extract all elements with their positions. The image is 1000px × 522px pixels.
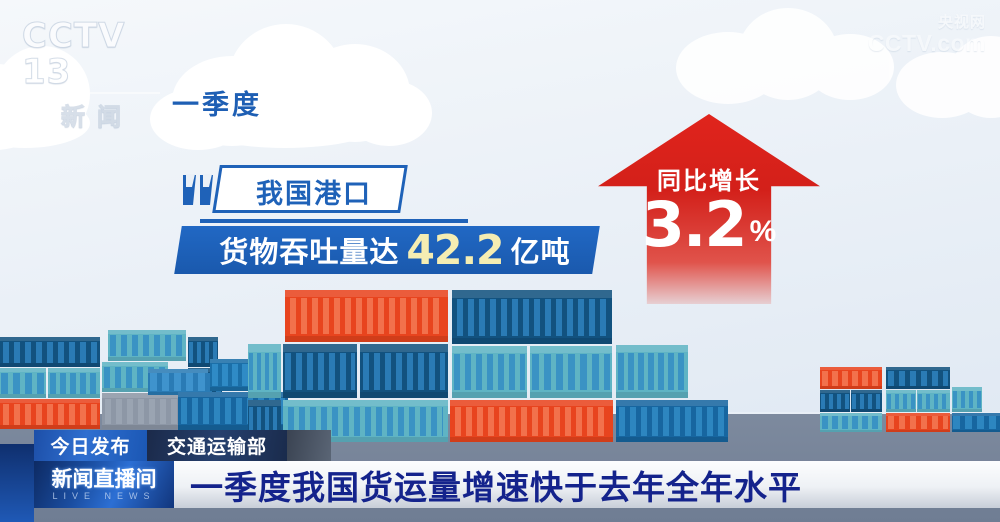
container-bottom-rail <box>48 394 100 398</box>
container-corrugation <box>888 416 948 429</box>
container-bottom-rail <box>886 386 950 389</box>
container-bottom-rail <box>917 409 950 412</box>
container-corrugation <box>852 394 881 409</box>
container-corrugation <box>918 394 949 409</box>
cctv-com-watermark-en: CCTV.com <box>808 31 986 55</box>
container-corrugation <box>3 342 97 363</box>
cctv-com-watermark-cn: 央视网 <box>808 14 986 31</box>
container-corrugation <box>50 373 99 394</box>
growth-value-group: 3.2 % <box>598 196 820 254</box>
container-bottom-rail <box>886 409 916 412</box>
program-name-cn: 新闻直播间 <box>52 468 157 491</box>
container-corrugation <box>822 371 880 386</box>
container-corrugation <box>457 299 607 336</box>
shipping-container <box>0 337 100 367</box>
container-top-rail <box>248 344 281 352</box>
container-bottom-rail <box>285 336 448 342</box>
stat-banner-rule <box>200 219 468 223</box>
growth-percent-sign: % <box>750 210 777 254</box>
container-bottom-rail <box>616 392 688 398</box>
container-corrugation <box>3 404 97 425</box>
stat-prefix-text: 货物吞吐量达 <box>219 229 399 271</box>
stat-unit-text: 亿吨 <box>511 229 571 271</box>
container-corrugation <box>953 391 981 408</box>
container-corrugation <box>290 298 443 334</box>
shipping-container <box>285 290 448 342</box>
container-corrugation <box>821 394 849 409</box>
container-bottom-rail <box>851 409 882 412</box>
shipping-container <box>452 346 527 398</box>
container-bottom-rail <box>108 357 186 361</box>
shipping-container <box>0 399 100 429</box>
container-corrugation <box>888 371 948 386</box>
stat-banner-content: 货物吞吐量达 42.2 亿吨 <box>190 226 600 274</box>
container-bottom-rail <box>530 392 612 398</box>
container-corrugation <box>953 416 998 429</box>
container-top-rail <box>530 346 612 353</box>
container-corrugation <box>249 353 280 390</box>
lower-third-left-strip <box>0 444 34 522</box>
lower-third-banner: 今日发布 交通运输部 新闻直播间 LIVE NEWS 一季度我国货运量增速快于去… <box>0 430 1000 522</box>
container-corrugation <box>532 354 609 390</box>
container-bottom-rail <box>820 409 850 412</box>
container-corrugation <box>887 394 915 409</box>
container-corrugation <box>454 354 525 390</box>
cloud-main <box>150 22 440 142</box>
stat-number: 42.2 <box>406 230 503 270</box>
tag-row-tail <box>287 430 331 461</box>
tag-today-release: 今日发布 <box>34 430 147 461</box>
container-top-rail <box>452 290 612 298</box>
container-top-rail <box>0 368 46 372</box>
shipping-container <box>530 346 612 398</box>
container-corrugation <box>618 353 686 390</box>
lower-third-headline-row: 新闻直播间 LIVE NEWS 一季度我国货运量增速快于去年全年水平 <box>34 461 1000 508</box>
container-bottom-rail <box>452 338 612 344</box>
container-top-rail <box>360 344 448 352</box>
container-bottom-rail <box>0 425 100 429</box>
cctv13-logo-divider <box>24 92 160 94</box>
shipping-container <box>0 368 46 398</box>
container-top-rail <box>952 387 982 391</box>
container-top-rail <box>188 337 218 341</box>
container-bottom-rail <box>360 392 448 398</box>
container-bottom-rail <box>0 394 46 398</box>
container-top-rail <box>283 344 357 352</box>
container-top-rail <box>452 346 527 353</box>
lower-third-tag-row: 今日发布 交通运输部 <box>34 430 331 461</box>
shipping-container <box>283 344 357 398</box>
container-top-rail <box>616 345 688 352</box>
container-bottom-rail <box>283 392 357 398</box>
container-bottom-rail <box>952 409 982 412</box>
container-top-rail <box>0 399 100 403</box>
shipping-container <box>820 390 850 412</box>
container-top-rail <box>0 337 100 341</box>
shipping-container <box>820 367 882 389</box>
cctv-com-watermark: 央视网 CCTV.com <box>808 14 986 60</box>
headline-text: 一季度我国货运量增速快于去年全年水平 <box>190 461 802 509</box>
shipping-container <box>48 368 100 398</box>
shipping-container <box>851 390 882 412</box>
container-top-rail <box>283 400 448 406</box>
container-top-rail <box>102 362 168 366</box>
container-top-rail <box>48 368 100 372</box>
shipping-container <box>248 344 281 398</box>
container-corrugation <box>150 373 206 391</box>
shipping-container <box>886 367 950 389</box>
container-bottom-rail <box>820 386 882 389</box>
container-top-rail <box>285 290 448 297</box>
container-top-rail <box>108 330 186 334</box>
cctv13-logo-line1: CCTV 13 <box>22 18 172 90</box>
container-top-rail <box>248 400 281 406</box>
container-corrugation <box>1 373 44 394</box>
container-bottom-rail <box>0 363 100 367</box>
growth-value: 3.2 <box>642 196 746 254</box>
container-top-rail <box>616 400 728 406</box>
container-bottom-rail <box>248 392 281 398</box>
tag-source-ministry: 交通运输部 <box>147 430 287 461</box>
cctv13-channel-logo: CCTV 13 新闻 <box>22 18 172 90</box>
shipping-container <box>360 344 448 398</box>
shipping-container <box>886 390 916 412</box>
quarter-label: 一季度 <box>172 83 262 122</box>
cctv13-logo-line2: 新闻 <box>22 97 172 132</box>
shipping-container <box>452 290 612 344</box>
program-brand-block: 新闻直播间 LIVE NEWS <box>34 461 174 508</box>
program-name-en: LIVE NEWS <box>52 491 155 502</box>
shipping-container <box>917 390 950 412</box>
container-corrugation <box>822 416 880 429</box>
container-bottom-rail <box>452 392 527 398</box>
shipping-container <box>108 330 186 361</box>
container-top-rail <box>148 369 208 373</box>
shipping-container <box>616 345 688 398</box>
subject-label-text: 我国港口 <box>229 170 399 212</box>
container-corrugation <box>285 353 355 390</box>
broadcast-frame: CCTV 13 新闻 央视网 CCTV.com 一季度 我国港口 货物吞吐量达 … <box>0 0 1000 522</box>
container-corrugation <box>110 335 183 356</box>
shipping-container <box>952 387 982 412</box>
container-corrugation <box>363 353 446 390</box>
growth-arrow-up-icon: 同比增长 3.2 % <box>598 114 820 304</box>
headline-plate: 一季度我国货运量增速快于去年全年水平 <box>174 461 1000 508</box>
container-top-rail <box>450 400 613 406</box>
